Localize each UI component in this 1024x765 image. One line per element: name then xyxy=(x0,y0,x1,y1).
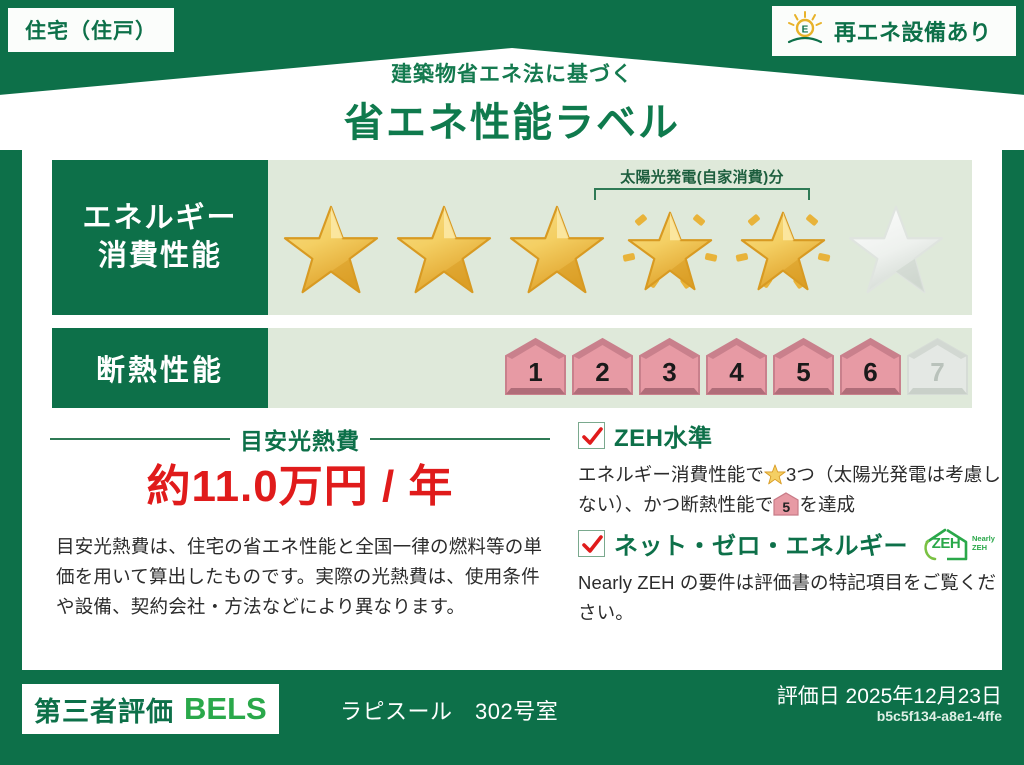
rule-left xyxy=(50,438,230,440)
insulation-performance-label: 断熱性能 xyxy=(52,328,268,408)
insulation-grade-value: 1 xyxy=(528,357,542,388)
insulation-grade-value: 3 xyxy=(662,357,676,388)
zeh-house-icon: ZEH xyxy=(923,527,969,561)
star-2 xyxy=(387,194,500,306)
building-name: ラピスール 302号室 xyxy=(340,694,558,726)
page-title: 省エネ性能ラベル xyxy=(0,90,1024,148)
renewable-equipment-badge: E 再エネ設備あり xyxy=(772,6,1016,56)
utility-cost-value: 約11.0万円 / 年 xyxy=(50,450,550,514)
housing-type-label: 住宅（住戸） xyxy=(25,15,157,45)
svg-text:E: E xyxy=(802,24,809,35)
zeh-standard-label: ZEH水準 xyxy=(614,418,713,453)
net-zero-energy-title-row: ネット・ゼロ・エネルギー ZEH Nearly ZEH xyxy=(578,526,1008,561)
net-zero-energy-criterion: ネット・ゼロ・エネルギー ZEH Nearly ZEH Nearly ZEH の… xyxy=(578,526,1008,627)
utility-cost-note: 目安光熱費は、住宅の省エネ性能と全国一律の燃料等の単価を用いて算出したものです。… xyxy=(56,532,544,622)
zeh-standard-checkbox[interactable] xyxy=(578,422,605,449)
insulation-grade-scale: 1234567 xyxy=(503,336,970,400)
renewable-equipment-label: 再エネ設備あり xyxy=(834,15,992,47)
star-3 xyxy=(500,194,613,306)
star-4-solar xyxy=(613,194,726,306)
housing-type-badge: 住宅（住戸） xyxy=(8,8,174,52)
insulation-grade-value: 2 xyxy=(595,357,609,388)
zeh-standard-criterion: ZEH水準 エネルギー消費性能で 3つ（太陽光発電は考慮しない）、かつ断熱性能で… xyxy=(578,418,1008,519)
insulation-grade-value: 6 xyxy=(863,357,877,388)
rule-right xyxy=(370,438,550,440)
star-5-solar xyxy=(726,194,839,306)
label-title-block: 建築物省エネ法に基づく 省エネ性能ラベル xyxy=(0,58,1024,148)
inline-house-grade-icon: 5 xyxy=(773,492,799,516)
insulation-grade-4: 4 xyxy=(704,336,769,400)
insulation-grade-value: 4 xyxy=(729,357,743,388)
insulation-grade-6: 6 xyxy=(838,336,903,400)
zeh-logo: ZEH Nearly ZEH xyxy=(923,527,995,561)
net-zero-energy-checkbox[interactable] xyxy=(578,530,605,557)
insulation-grade-5: 5 xyxy=(771,336,836,400)
check-icon xyxy=(581,425,604,448)
insulation-grade-3: 3 xyxy=(637,336,702,400)
solar-bracket-note: 太陽光発電(自家消費)分 xyxy=(592,166,812,187)
zeh-standard-body: エネルギー消費性能で 3つ（太陽光発電は考慮しない）、かつ断熱性能で 5を達成 xyxy=(578,460,1008,519)
star-6-empty xyxy=(839,194,952,306)
star-1 xyxy=(274,194,387,306)
inline-house-grade-value: 5 xyxy=(773,496,799,518)
zeh-logo-sublabel: Nearly ZEH xyxy=(972,535,995,552)
net-zero-energy-body: Nearly ZEH の要件は評価書の特記項目をご覧ください。 xyxy=(578,568,1008,627)
inline-star-icon xyxy=(764,464,786,485)
energy-performance-row: エネルギー 消費性能 太陽光発電(自家消費)分 xyxy=(52,160,972,315)
solar-sun-icon: E xyxy=(784,9,828,54)
zeh-logo-text: ZEH xyxy=(923,535,969,552)
zeh-body-part-a: エネルギー消費性能で xyxy=(578,464,764,485)
insulation-grade-value: 7 xyxy=(930,357,944,388)
bels-jp-label: 第三者評価 xyxy=(34,690,174,729)
evaluation-id: b5c5f134-a8e1-4ffe xyxy=(877,708,1002,724)
star-rating xyxy=(274,194,972,306)
check-icon xyxy=(581,533,604,556)
bels-certification-badge: 第三者評価 BELS xyxy=(22,684,279,734)
net-zero-energy-label: ネット・ゼロ・エネルギー xyxy=(614,526,908,561)
insulation-grade-value: 5 xyxy=(796,357,810,388)
bels-en-label: BELS xyxy=(184,691,267,727)
zeh-standard-title-row: ZEH水準 xyxy=(578,418,1008,453)
insulation-performance-row: 断熱性能 1234567 xyxy=(52,328,972,408)
zeh-body-part-c: を達成 xyxy=(799,494,855,515)
insulation-grade-1: 1 xyxy=(503,336,568,400)
insulation-performance-panel: 1234567 xyxy=(268,328,972,408)
zeh-sub-line2: ZEH xyxy=(972,543,987,552)
insulation-grade-7: 7 xyxy=(905,336,970,400)
evaluation-date: 評価日 2025年12月23日 xyxy=(777,680,1002,710)
energy-performance-panel: 太陽光発電(自家消費)分 xyxy=(268,160,972,315)
energy-performance-label: エネルギー 消費性能 xyxy=(52,160,268,315)
title-subtitle: 建築物省エネ法に基づく xyxy=(0,58,1024,88)
insulation-grade-2: 2 xyxy=(570,336,635,400)
footer-band: 第三者評価 BELS ラピスール 302号室 評価日 2025年12月23日 b… xyxy=(0,670,1024,765)
label-card: エネルギー 消費性能 太陽光発電(自家消費)分 xyxy=(22,150,1002,670)
